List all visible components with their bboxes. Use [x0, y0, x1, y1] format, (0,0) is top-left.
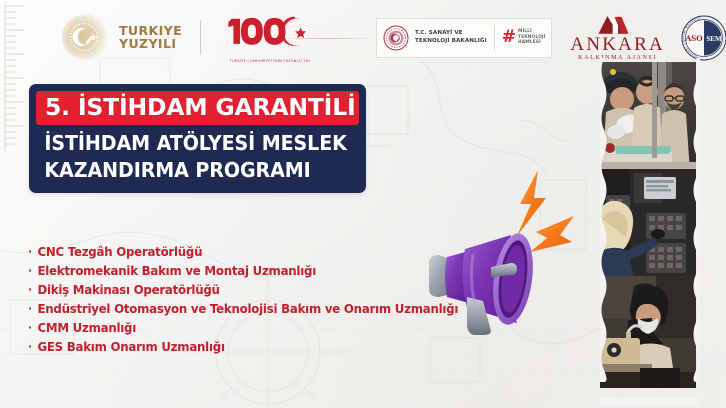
bullet-marker: ·: [28, 318, 32, 337]
photo-workshop-trainees: [600, 62, 696, 172]
list-item: · Endüstriyel Otomasyon ve Teknolojisi B…: [28, 299, 418, 318]
hamle-line3: HAMLESİ: [518, 40, 545, 46]
title-highlight-bar: 5. İSTİHDAM GARANTİLİ: [36, 91, 359, 125]
list-item: · CMM Uzmanlığı: [28, 318, 418, 337]
logo-group-right: T.C. SANAYİ VE TEKNOLOJİ BAKANLIĞI # MİL…: [376, 14, 726, 61]
svg-text:ASO: ASO: [685, 33, 703, 43]
list-item-label: CMM Uzmanlığı: [37, 318, 136, 337]
logo-ankara-kalkinma-ajansi: ANKARA KALKINMA AJANSI: [570, 14, 664, 61]
logo-turkiye-yuzyili: TURKIYE YUZYILI TÜRKİYE CUMHURİYETİ'NİN …: [62, 12, 315, 62]
ministry-seal-icon: [383, 25, 409, 51]
poster-canvas: TURKIYE YUZYILI TÜRKİYE CUMHURİYETİ'NİN …: [0, 0, 726, 408]
title-line-3: KAZANDIRMA PROGRAMI: [36, 157, 336, 184]
ministry-line2: TEKNOLOJİ BAKANLIĞI: [415, 38, 487, 45]
program-list: · CNC Tezgâh Operatörlüğü · Elektromekan…: [28, 242, 438, 356]
list-item-label: GES Bakım Onarım Uzmanlığı: [37, 337, 224, 356]
logo-ministry: T.C. SANAYİ VE TEKNOLOJİ BAKANLIĞI: [383, 25, 487, 51]
ministry-line1: T.C. SANAYİ VE: [415, 30, 487, 37]
logo-centennial: TÜRKİYE CUMHURİYETİ'NİN YÜZÜNCÜ YILI: [219, 12, 315, 62]
bullet-marker: ·: [28, 242, 32, 261]
list-item: · GES Bakım Onarım Uzmanlığı: [28, 337, 418, 356]
title-line-1: 5. İSTİHDAM GARANTİLİ: [45, 93, 356, 121]
ankara-name: ANKARA: [570, 35, 664, 54]
turkiye-yuzyili-line2: YUZYILI: [119, 37, 182, 50]
svg-text:SEM: SEM: [706, 35, 722, 43]
logo-box-ministry: T.C. SANAYİ VE TEKNOLOJİ BAKANLIĞI # MİL…: [376, 18, 552, 58]
photo-cnc-operator: [600, 169, 696, 279]
list-item-label: Elektromekanik Bakım ve Montaj Uzmanlığı: [37, 261, 316, 280]
logo-divider: [200, 20, 201, 54]
list-item: · Elektromekanik Bakım ve Montaj Uzmanlı…: [28, 261, 418, 280]
header-hairline: [282, 38, 374, 39]
list-item-label: Endüstriyel Otomasyon ve Teknolojisi Bak…: [37, 299, 458, 318]
list-item-label: CNC Tezgâh Operatörlüğü: [37, 242, 202, 261]
crescent-star-icon: [62, 14, 110, 60]
bullet-marker: ·: [28, 299, 32, 318]
logo-milli-teknoloji-hamlesi: # MİLLİ TEKNOLOJİ HAMLESİ: [502, 29, 546, 46]
ministry-divider: [494, 25, 495, 51]
megaphone-icon: [425, 205, 550, 335]
centennial-subtitle: TÜRKİYE CUMHURİYETİ'NİN YÜZÜNCÜ YILI: [221, 59, 320, 63]
ankara-subtitle: KALKINMA AJANSI: [570, 55, 664, 61]
list-item-label: Dikiş Makinası Operatörlüğü: [37, 280, 219, 299]
hashtag-icon: #: [502, 30, 516, 45]
list-item: · CNC Tezgâh Operatörlüğü: [28, 242, 418, 261]
title-banner: 5. İSTİHDAM GARANTİLİ İSTİHDAM ATÖLYESİ …: [29, 84, 366, 193]
photo-sewing-operator: [600, 276, 696, 388]
bullet-marker: ·: [28, 337, 32, 356]
title-line-2: İSTİHDAM ATÖLYESİ MESLEK: [36, 125, 336, 157]
list-item: · Dikiş Makinası Operatörlüğü: [28, 280, 418, 299]
photo-column: [600, 62, 696, 400]
logo-aso-sem: ASO SEM MESLEKİ EĞİTİM MERKEZİ: [681, 15, 726, 61]
bullet-marker: ·: [28, 280, 32, 299]
bullet-marker: ·: [28, 261, 32, 280]
ankara-m-mark-icon: [595, 14, 641, 34]
